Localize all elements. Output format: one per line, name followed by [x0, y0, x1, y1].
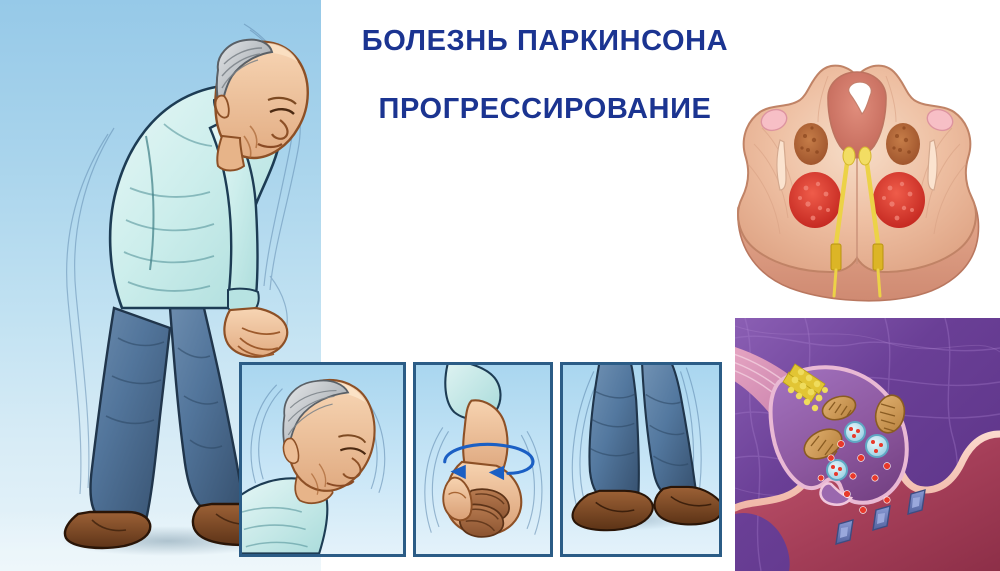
page-title: БОЛЕЗНЬ ПАРКИНСОНА ПРОГРЕССИРОВАНИЕ: [330, 26, 760, 125]
title-line-progression: ПРОГРЕССИРОВАНИЕ: [330, 94, 760, 124]
shuffling-gait-panel: [560, 362, 722, 557]
dopaminergic-synapse: [735, 318, 1000, 571]
midbrain-cross-section: [718, 58, 996, 310]
infographic-canvas: БОЛЕЗНЬ ПАРКИНСОНА ПРОГРЕССИРОВАНИЕ: [0, 0, 1000, 571]
title-line-disease: БОЛЕЗНЬ ПАРКИНСОНА: [330, 26, 760, 56]
head-tremor-panel: [239, 362, 406, 557]
hand-tremor-panel: [413, 362, 553, 557]
